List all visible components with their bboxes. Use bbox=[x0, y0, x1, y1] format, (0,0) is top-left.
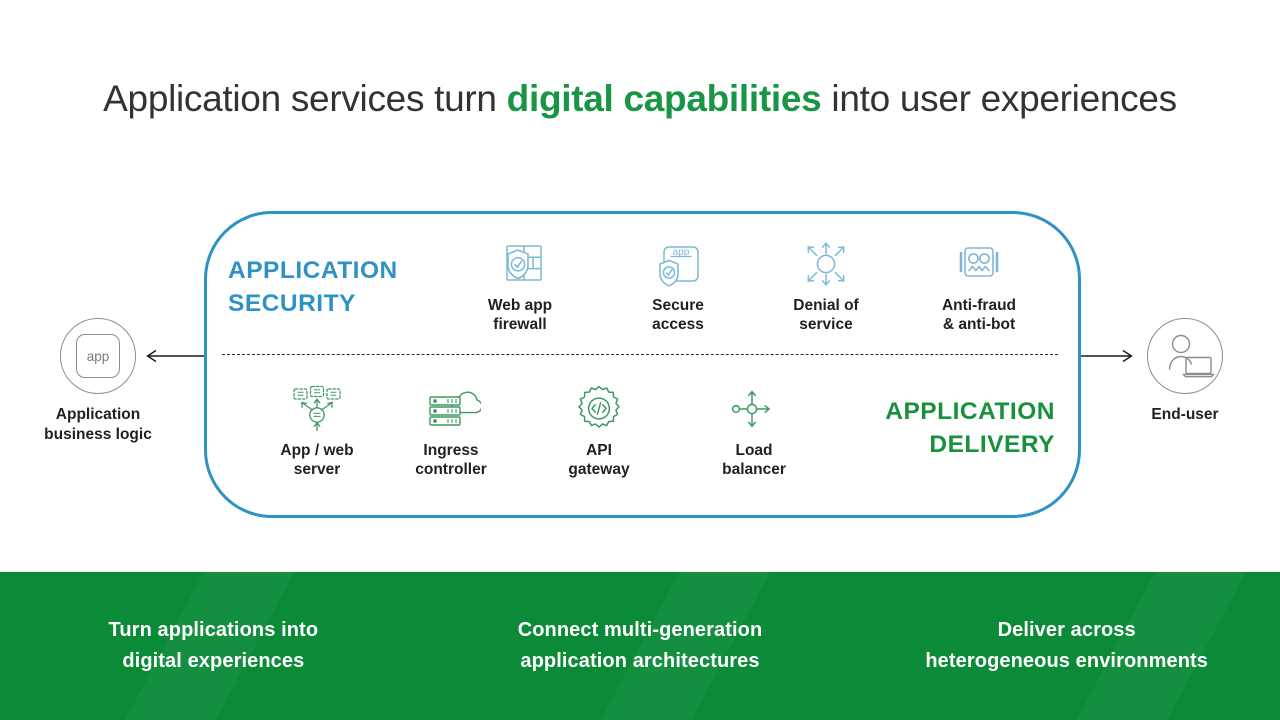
service-ingress-controller[interactable]: Ingress controller bbox=[385, 383, 517, 479]
app-shield-icon: app bbox=[612, 238, 744, 290]
service-label: Ingress controller bbox=[385, 441, 517, 479]
banner-item-2: Connect multi-generation application arc… bbox=[427, 615, 854, 677]
service-label: Secure access bbox=[612, 296, 744, 334]
delivery-heading-line2: DELIVERY bbox=[800, 429, 1055, 462]
service-label-line1: API bbox=[533, 441, 665, 460]
service-label-line1: Denial of bbox=[760, 296, 892, 315]
service-label: Web app firewall bbox=[454, 296, 586, 334]
application-business-logic-circle: app bbox=[60, 318, 136, 394]
service-label: App / web server bbox=[251, 441, 383, 479]
robot-face-icon bbox=[913, 238, 1045, 290]
service-label-line2: firewall bbox=[454, 315, 586, 334]
endpoint-left-caption-line2: business logic bbox=[3, 425, 193, 445]
endpoint-left-caption: Application business logic bbox=[3, 405, 193, 445]
page-title: Application services turn digital capabi… bbox=[0, 78, 1280, 120]
endpoint-left-caption-line1: Application bbox=[3, 405, 193, 425]
service-anti-fraud-anti-bot[interactable]: Anti-fraud & anti-bot bbox=[913, 238, 1045, 334]
page-title-highlight: digital capabilities bbox=[507, 78, 822, 119]
load-balancer-arrows-icon bbox=[688, 383, 820, 435]
service-label-line1: App / web bbox=[251, 441, 383, 460]
section-heading-application-security: APPLICATION SECURITY bbox=[228, 255, 398, 320]
service-label-line2: balancer bbox=[688, 460, 820, 479]
service-label-line1: Load bbox=[688, 441, 820, 460]
service-label-line2: access bbox=[612, 315, 744, 334]
panel-dashed-divider bbox=[222, 354, 1058, 355]
endpoint-right-caption-line1: End-user bbox=[1090, 405, 1280, 425]
service-label-line1: Ingress bbox=[385, 441, 517, 460]
end-user-circle bbox=[1147, 318, 1223, 394]
service-label: API gateway bbox=[533, 441, 665, 479]
service-denial-of-service[interactable]: Denial of service bbox=[760, 238, 892, 334]
ddos-burst-icon bbox=[760, 238, 892, 290]
endpoint-application-business-logic: app Application business logic bbox=[3, 318, 193, 445]
service-label: Anti-fraud & anti-bot bbox=[913, 296, 1045, 334]
banner-item-1-line2: digital experiences bbox=[0, 646, 427, 677]
banner-item-3-line1: Deliver across bbox=[853, 615, 1280, 646]
service-api-gateway[interactable]: API gateway bbox=[533, 383, 665, 479]
endpoint-right-caption: End-user bbox=[1090, 405, 1280, 425]
service-label-line1: Secure bbox=[612, 296, 744, 315]
service-label-line1: Anti-fraud bbox=[913, 296, 1045, 315]
banner-item-3-line2: heterogeneous environments bbox=[853, 646, 1280, 677]
security-heading-line1: APPLICATION bbox=[228, 255, 398, 288]
service-label-line2: & anti-bot bbox=[913, 315, 1045, 334]
endpoint-end-user: End-user bbox=[1090, 318, 1280, 425]
delivery-heading-line1: APPLICATION bbox=[800, 396, 1055, 429]
app-square-icon: app bbox=[76, 334, 120, 378]
banner-items: Turn applications into digital experienc… bbox=[0, 572, 1280, 720]
service-label-line2: controller bbox=[385, 460, 517, 479]
app-square-icon-label: app bbox=[87, 349, 110, 364]
bottom-value-banner: Turn applications into digital experienc… bbox=[0, 572, 1280, 720]
service-load-balancer[interactable]: Load balancer bbox=[688, 383, 820, 479]
service-web-app-firewall[interactable]: Web app firewall bbox=[454, 238, 586, 334]
service-app-web-server[interactable]: App / web server bbox=[251, 383, 383, 479]
banner-item-2-line2: application architectures bbox=[427, 646, 854, 677]
security-heading-line2: SECURITY bbox=[228, 288, 398, 321]
service-label-line2: service bbox=[760, 315, 892, 334]
firewall-brick-shield-icon bbox=[454, 238, 586, 290]
banner-item-1: Turn applications into digital experienc… bbox=[0, 615, 427, 677]
service-label: Denial of service bbox=[760, 296, 892, 334]
service-label-line2: server bbox=[251, 460, 383, 479]
service-label: Load balancer bbox=[688, 441, 820, 479]
banner-item-1-line1: Turn applications into bbox=[0, 615, 427, 646]
arrow-left-icon bbox=[145, 349, 211, 363]
page-title-part1: Application services turn bbox=[103, 78, 507, 119]
person-with-laptop-icon bbox=[1148, 319, 1224, 395]
banner-item-2-line1: Connect multi-generation bbox=[427, 615, 854, 646]
page-title-part2: into user experiences bbox=[821, 78, 1176, 119]
app-web-server-nodes-icon bbox=[251, 383, 383, 435]
svg-text:app: app bbox=[673, 247, 690, 258]
server-cloud-icon bbox=[385, 383, 517, 435]
service-secure-access[interactable]: app Secure access bbox=[612, 238, 744, 334]
service-label-line2: gateway bbox=[533, 460, 665, 479]
section-heading-application-delivery: APPLICATION DELIVERY bbox=[800, 396, 1055, 461]
banner-item-3: Deliver across heterogeneous environment… bbox=[853, 615, 1280, 677]
gear-code-icon bbox=[533, 383, 665, 435]
service-label-line1: Web app bbox=[454, 296, 586, 315]
